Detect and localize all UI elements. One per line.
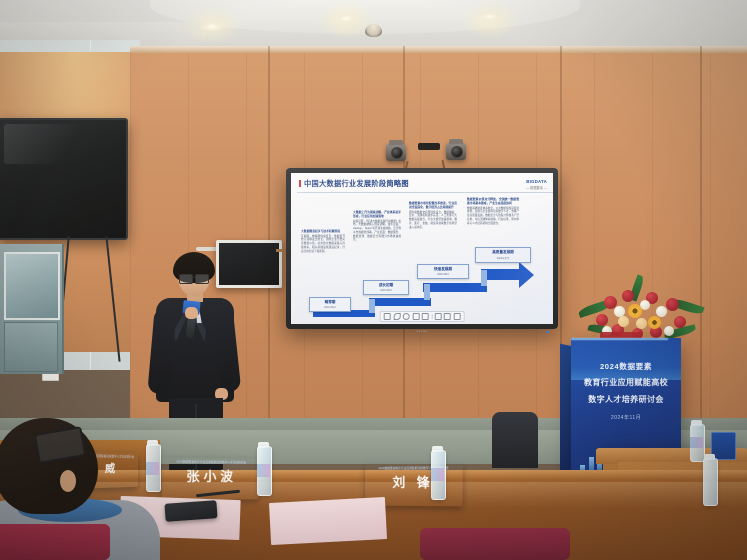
glasses-icon bbox=[195, 274, 209, 284]
slide-logo: BIGDATA — 数据要素 — bbox=[526, 179, 547, 190]
presenter-hand-left bbox=[185, 307, 198, 319]
banner-date: 2024年11月 bbox=[571, 414, 681, 421]
bottle-label bbox=[257, 464, 270, 477]
shape-icon[interactable] bbox=[412, 313, 419, 320]
delete-icon[interactable] bbox=[434, 313, 441, 320]
red-rose bbox=[674, 316, 686, 328]
slide-title-rule bbox=[297, 192, 553, 193]
banner-line-2: 教育行业应用赋能高校 bbox=[571, 377, 681, 388]
bottle-label bbox=[146, 462, 159, 475]
attendee-standing bbox=[492, 412, 538, 468]
attendee-ear bbox=[60, 470, 76, 492]
banner-line-3: 数字人才培养研讨会 bbox=[571, 394, 681, 405]
presentation-slide: 中国大数据行业发展阶段简略图 BIGDATA — 数据要素 — 大数据概念起步与… bbox=[291, 173, 553, 324]
eraser-icon[interactable] bbox=[403, 313, 410, 320]
slide-column-2: 大数据上升为国家战略，产业体系初步形成，行业应用加速落地 政策层面：《促进大数据… bbox=[353, 210, 401, 242]
glasses-icon bbox=[179, 274, 193, 284]
slide-column-3: 数据要素市场化配置改革推进，行业应用全面深化，数字经济占比持续提升 国家级数据交… bbox=[409, 201, 457, 229]
arrow-riser-2 bbox=[424, 284, 430, 300]
bottle-label bbox=[431, 468, 444, 481]
slide-column-1: 大数据概念起步与技术积累阶段 互联网、物联网快速普及，数据量开始呈现爆发式增长。… bbox=[301, 229, 345, 253]
more-icon[interactable] bbox=[453, 313, 460, 320]
bottle-label bbox=[690, 437, 703, 448]
cabinet-glass-door[interactable] bbox=[4, 252, 60, 320]
programme-sheet bbox=[269, 497, 387, 545]
slide-title: 中国大数据行业发展阶段简略图 bbox=[299, 179, 409, 189]
arrow-segment-3 bbox=[423, 283, 487, 292]
cream-rose bbox=[618, 316, 629, 327]
tv-screen-glare bbox=[4, 124, 94, 164]
name-card-org: 2024数据要素教育行业应用赋能高校数字人才培养研讨会 bbox=[162, 457, 259, 465]
wall-top-trim bbox=[130, 46, 747, 53]
arrow-segment-2 bbox=[369, 298, 431, 306]
title-accent-bar bbox=[299, 180, 301, 187]
conference-room-photo: 中国大数据行业发展阶段简略图 BIGDATA — 数据要素 — 大数据概念起步与… bbox=[0, 0, 747, 560]
name-card-name: 张小波 bbox=[162, 465, 259, 485]
whiteboard-screen[interactable]: 中国大数据行业发展阶段简略图 BIGDATA — 数据要素 — 大数据概念起步与… bbox=[291, 173, 553, 324]
red-rose bbox=[622, 290, 634, 302]
frame-icon[interactable] bbox=[422, 313, 429, 320]
wall-tv[interactable] bbox=[0, 118, 128, 240]
camera-lens-icon bbox=[451, 146, 463, 158]
smartphone bbox=[164, 500, 217, 522]
toolbar-separator bbox=[431, 314, 432, 319]
white-rose bbox=[664, 326, 674, 336]
ptz-camera-right bbox=[446, 143, 466, 160]
pointer-icon[interactable] bbox=[384, 313, 391, 320]
downlight-icon bbox=[479, 12, 501, 21]
pen-icon[interactable] bbox=[393, 313, 400, 320]
water-bottle bbox=[703, 458, 718, 506]
stage-box-2: 成长初期 2015-2019 bbox=[363, 280, 409, 295]
interactive-whiteboard[interactable]: 中国大数据行业发展阶段简略图 BIGDATA — 数据要素 — 大数据概念起步与… bbox=[286, 168, 558, 329]
stage-box-4: 高质量发展期 2024年至今 bbox=[475, 247, 531, 263]
red-rose bbox=[596, 314, 608, 326]
stage-box-1: 萌芽期 2012-2014 bbox=[309, 297, 351, 312]
display-brand-label: seewo bbox=[417, 329, 428, 333]
downlight-icon bbox=[201, 22, 223, 31]
banner-glow-line bbox=[571, 338, 668, 340]
arrow-head bbox=[519, 262, 534, 288]
slide-logo-subtitle: — 数据要素 — bbox=[526, 185, 547, 190]
sunflower bbox=[628, 304, 642, 318]
ptz-mount bbox=[449, 139, 463, 144]
camera-lens-icon bbox=[391, 147, 403, 159]
ptz-mount bbox=[389, 140, 403, 145]
power-led-icon bbox=[546, 331, 549, 333]
red-rose bbox=[666, 298, 679, 311]
banner-line-1: 2024数据要素 bbox=[571, 361, 681, 372]
ptz-camera-left bbox=[386, 144, 406, 161]
whiteboard-toolbar[interactable] bbox=[380, 311, 465, 322]
stage-box-3: 快速发展期 2020-2023 bbox=[417, 264, 469, 279]
arrow-riser-1 bbox=[369, 299, 375, 313]
dome-camera-icon bbox=[365, 24, 382, 37]
banner-skyline-graphic bbox=[571, 338, 681, 380]
glasses-bridge bbox=[191, 277, 195, 278]
sunflower bbox=[648, 316, 661, 329]
page-icon[interactable] bbox=[444, 313, 451, 320]
arrow-segment-4 bbox=[481, 269, 521, 280]
cabinet-lower-door[interactable] bbox=[4, 322, 58, 372]
name-card-name: 刘 锋 bbox=[365, 472, 463, 491]
downlight-icon bbox=[335, 14, 357, 23]
white-rose bbox=[656, 306, 667, 317]
wood-panel-seam bbox=[700, 46, 702, 436]
cream-rose bbox=[636, 318, 647, 329]
chair bbox=[420, 528, 570, 560]
ir-receiver bbox=[418, 143, 440, 150]
slide-column-4: 数据要素价值充分释放，全国统一数据要素市场基本建成，产业生态高度协同 数据基础制… bbox=[467, 197, 519, 225]
arrow-riser-3 bbox=[481, 270, 487, 286]
name-card-org: 2024数据要素教育行业应用赋能高校数字人才培养研讨会 bbox=[365, 464, 463, 471]
chair bbox=[0, 524, 110, 560]
